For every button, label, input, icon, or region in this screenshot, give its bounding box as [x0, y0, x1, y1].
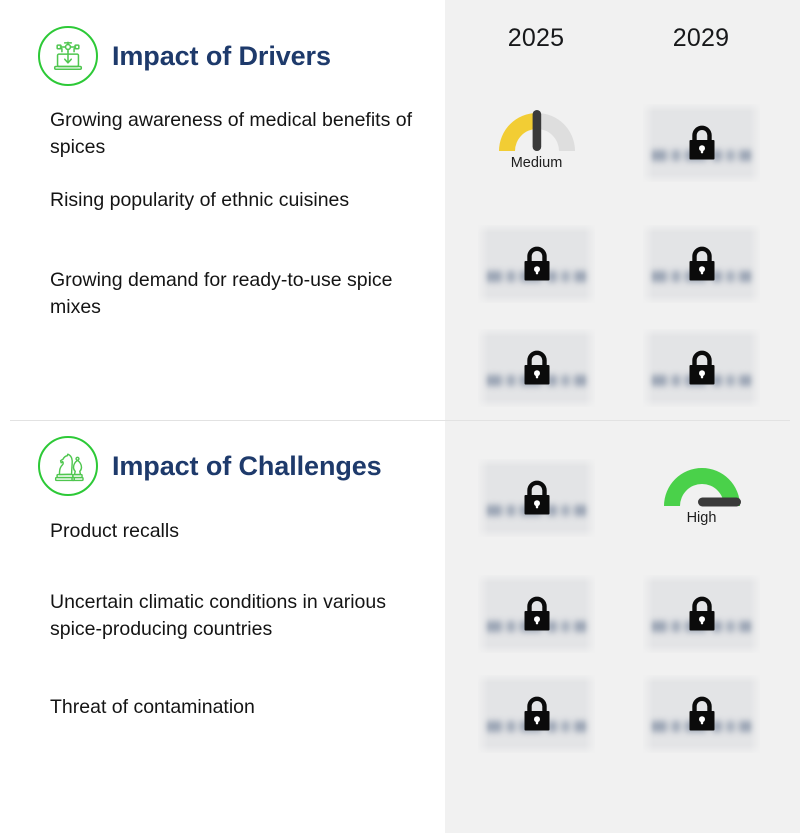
padlock-icon: [517, 476, 557, 520]
padlock-icon: [682, 242, 722, 286]
section-title-drivers: Impact of Drivers: [112, 41, 331, 72]
section-header-challenges: Impact of Challenges: [38, 436, 382, 496]
rating-cell-drivers-r3-2025[interactable]: [478, 329, 595, 407]
rating-cell-challenges-r3-2029[interactable]: [643, 675, 760, 753]
rating-cell-drivers-r2-2029[interactable]: [643, 225, 760, 303]
challenge-item-3: Threat of contamination: [50, 694, 420, 721]
padlock-icon: [517, 346, 557, 390]
locked-tile[interactable]: [643, 575, 760, 653]
locked-tile[interactable]: [478, 459, 595, 537]
rating-cell-drivers-r1-2025[interactable]: Medium: [478, 104, 595, 182]
rating-cell-challenges-r1-2029[interactable]: High: [643, 459, 760, 537]
section-title-challenges: Impact of Challenges: [112, 451, 382, 482]
section-divider: [10, 420, 790, 421]
locked-tile[interactable]: [643, 675, 760, 753]
locked-tile[interactable]: [643, 329, 760, 407]
column-header-2029: 2029: [631, 24, 771, 53]
rating-cell-drivers-r3-2029[interactable]: [643, 329, 760, 407]
driver-item-3: Growing demand for ready-to-use spice mi…: [50, 267, 420, 321]
padlock-icon: [517, 692, 557, 736]
rating-cell-challenges-r3-2025[interactable]: [478, 675, 595, 753]
rating-cell-challenges-r1-2025[interactable]: [478, 459, 595, 537]
padlock-icon: [517, 592, 557, 636]
locked-tile[interactable]: [643, 104, 760, 182]
locked-tile[interactable]: [478, 329, 595, 407]
padlock-icon: [682, 346, 722, 390]
gauge-label-medium: Medium: [511, 155, 563, 171]
laptop-download-icon: [38, 26, 98, 86]
challenge-item-2: Uncertain climatic conditions in various…: [50, 589, 420, 643]
padlock-icon: [517, 242, 557, 286]
driver-item-2: Rising popularity of ethnic cuisines: [50, 187, 420, 214]
gauge-label-high: High: [687, 510, 717, 526]
rating-cell-drivers-r1-2029[interactable]: [643, 104, 760, 182]
column-header-2025: 2025: [466, 24, 606, 53]
driver-item-1: Growing awareness of medical benefits of…: [50, 107, 420, 161]
padlock-icon: [682, 121, 722, 165]
infographic-page: 2025 2029: [0, 0, 800, 833]
section-header-drivers: Impact of Drivers: [38, 26, 331, 86]
locked-tile[interactable]: [478, 675, 595, 753]
gauge-dial-medium: [492, 104, 582, 154]
locked-tile[interactable]: [478, 575, 595, 653]
gauge-medium: Medium: [478, 104, 595, 182]
padlock-icon: [682, 592, 722, 636]
locked-tile[interactable]: [643, 225, 760, 303]
padlock-icon: [682, 692, 722, 736]
gauge-dial-high: [657, 459, 747, 509]
chess-pieces-icon: [38, 436, 98, 496]
rating-cell-challenges-r2-2025[interactable]: [478, 575, 595, 653]
rating-cell-challenges-r2-2029[interactable]: [643, 575, 760, 653]
gauge-high: High: [643, 459, 760, 537]
locked-tile[interactable]: [478, 225, 595, 303]
rating-cell-drivers-r2-2025[interactable]: [478, 225, 595, 303]
challenge-item-1: Product recalls: [50, 518, 420, 545]
